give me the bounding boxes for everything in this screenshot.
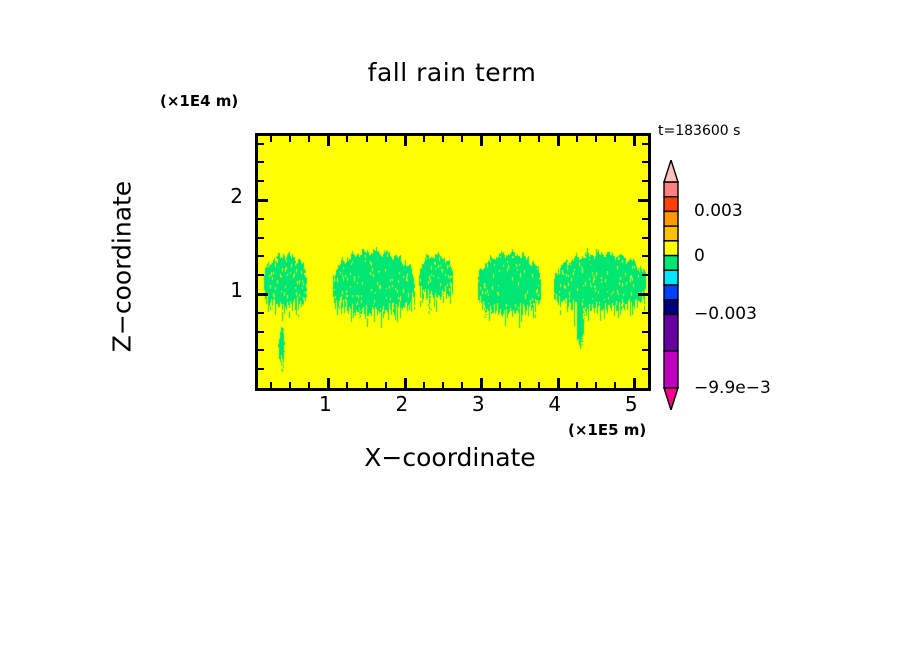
x-tick [366,382,368,388]
x-tick [576,382,578,388]
x-tick [633,378,636,388]
x-tick-label: 1 [305,392,345,416]
x-tick [614,136,616,142]
y-tick [258,331,264,333]
y-tick [638,293,648,296]
y-tick [638,199,648,202]
x-tick-label: 5 [611,392,651,416]
colorbar-tick-label: 0 [694,246,705,266]
x-tick [423,382,425,388]
y-tick [258,237,264,239]
y-tick [642,331,648,333]
y-tick [258,255,264,257]
colorbar-band-magenta [664,351,678,388]
x-tick [576,136,578,142]
y-tick [258,274,264,276]
x-tick [289,136,291,142]
y-tick [642,368,648,370]
colorbar-band-blue [664,285,678,300]
y-tick-label: 1 [213,278,243,302]
y-tick [642,349,648,351]
x-tick [442,382,444,388]
x-tick-label: 3 [458,392,498,416]
x-tick [327,136,330,146]
y-tick [258,312,264,314]
x-tick [385,136,387,142]
x-tick [614,382,616,388]
x-tick [538,382,540,388]
x-axis-title: X−coordinate [255,443,645,472]
x-tick [404,136,407,146]
colorbar-tick-label: −9.9e−3 [694,378,771,398]
colorbar-under-arrow [664,388,678,410]
colorbar-band-yellow [664,241,678,256]
colorbar-band-navy [664,300,678,315]
plot-area [255,133,651,391]
y-tick-label: 2 [213,184,243,208]
colorbar-band-gold [664,226,678,241]
contour-field [258,136,648,388]
x-tick [595,382,597,388]
y-tick [258,180,264,182]
y-tick [258,161,264,163]
x-tick [404,378,407,388]
colorbar-band-orange-red [664,197,678,212]
x-tick [270,382,272,388]
x-tick [461,382,463,388]
x-tick [366,136,368,142]
x-tick [346,136,348,142]
colorbar-band-green [664,256,678,271]
y-tick [642,143,648,145]
x-axis-unit-label: (×1E5 m) [568,421,646,439]
x-tick [327,378,330,388]
y-tick [642,274,648,276]
x-tick [519,382,521,388]
x-tick [538,136,540,142]
x-tick [557,136,560,146]
y-axis-title: Z−coordinate [108,72,137,462]
y-tick [642,255,648,257]
colorbar-band-purple [664,314,678,351]
colorbar-band-cyan [664,270,678,285]
colorbar-tick-label: 0.003 [694,201,743,221]
colorbar-band-salmon [664,182,678,197]
x-tick [308,382,310,388]
x-tick [480,378,483,388]
x-tick-label: 4 [535,392,575,416]
y-tick [258,199,268,202]
x-tick [385,382,387,388]
x-tick [499,382,501,388]
y-tick [258,143,264,145]
x-tick [346,382,348,388]
y-tick [642,180,648,182]
x-tick [633,136,636,146]
y-tick [642,237,648,239]
x-tick [480,136,483,146]
y-tick [258,368,264,370]
x-tick [423,136,425,142]
x-tick [442,136,444,142]
figure-canvas: fall rain term (×1E4 m) (×1E5 m) t=18360… [0,0,904,654]
y-tick [258,293,268,296]
colorbar [661,160,681,410]
x-tick [519,136,521,142]
x-tick-label: 2 [382,392,422,416]
y-tick [642,161,648,163]
colorbar-band-orange [664,211,678,226]
y-tick [642,312,648,314]
y-tick [258,349,264,351]
x-tick [461,136,463,142]
x-tick [557,378,560,388]
colorbar-swatches [661,160,681,410]
x-tick [308,136,310,142]
y-tick [258,218,264,220]
x-tick [270,136,272,142]
y-tick [642,218,648,220]
colorbar-tick-label: −0.003 [694,304,757,324]
colorbar-over-arrow [664,160,678,182]
x-tick [289,382,291,388]
y-axis-unit-label: (×1E4 m) [160,92,238,110]
x-tick [499,136,501,142]
timestamp-annotation: t=183600 s [658,123,740,139]
x-tick [595,136,597,142]
